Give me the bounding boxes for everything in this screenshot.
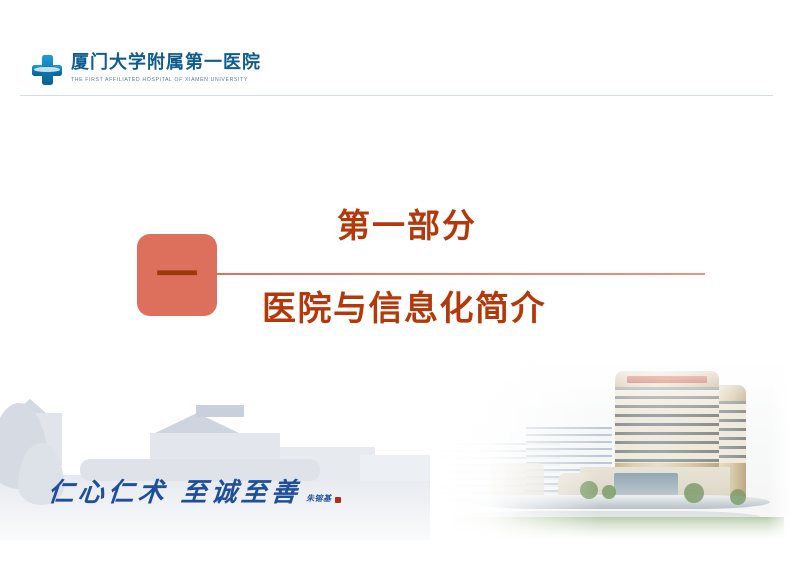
cross-gloss-highlight: [34, 67, 60, 72]
hospital-tower-photo: [430, 355, 793, 540]
heritage-hall-upper-roof: [196, 405, 244, 417]
motto-signature: 朱镕基: [306, 493, 332, 504]
tower-tree-4: [730, 489, 746, 505]
page-title: 第一部分: [337, 206, 477, 246]
page-subtitle: 医院与信息化简介: [262, 288, 546, 330]
tower-tree-3: [684, 483, 704, 503]
medical-cross-icon: [32, 55, 62, 85]
title-divider-line: [205, 273, 705, 275]
brand-name-chinese: 厦门大学附属第一医院: [71, 52, 261, 74]
brand-text-group: 厦门大学附属第一医院 THE FIRST AFFILIATED HOSPITAL…: [71, 52, 261, 84]
brand-name-english: THE FIRST AFFILIATED HOSPITAL OF XIAMEN …: [71, 76, 261, 84]
motto-seal-icon: [335, 497, 341, 503]
header-divider: [20, 95, 773, 96]
heritage-campus-photo: [0, 355, 430, 540]
hospital-logo-lockup: 厦门大学附属第一医院 THE FIRST AFFILIATED HOSPITAL…: [32, 52, 261, 85]
heritage-far-wing: [360, 455, 430, 481]
tower-photo-fade-bottom: [430, 508, 793, 540]
footer-imagery-band: [0, 355, 793, 540]
part-number-label: 一: [156, 254, 198, 296]
part-number-badge: 一: [137, 234, 217, 316]
hospital-motto: 仁心仁术 至诚至善 朱镕基: [48, 479, 341, 507]
brand-header: 厦门大学附属第一医院 THE FIRST AFFILIATED HOSPITAL…: [0, 52, 793, 96]
presentation-slide: 厦门大学附属第一医院 THE FIRST AFFILIATED HOSPITAL…: [0, 0, 793, 561]
motto-text: 仁心仁术 至诚至善: [47, 479, 303, 507]
tower-tree-2: [602, 485, 616, 499]
